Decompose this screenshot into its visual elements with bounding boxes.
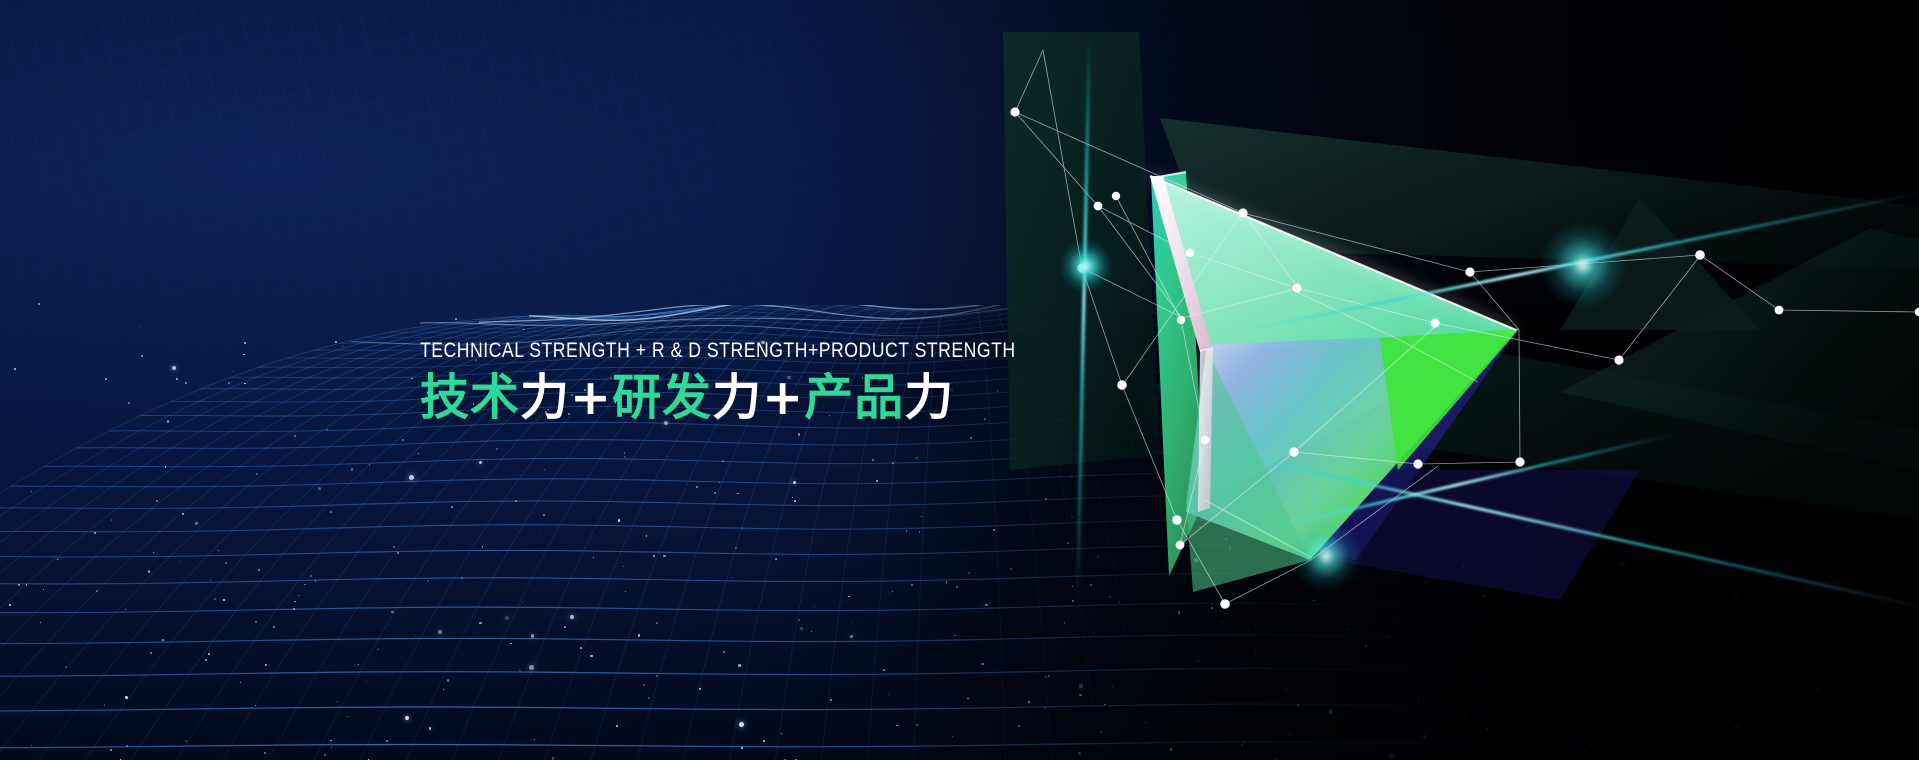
headline-segment-2: +: [570, 369, 612, 426]
headline-segment-5: +: [762, 369, 804, 426]
hero-banner: TECHNICAL STRENGTH + R & D STRENGTH+PROD…: [0, 0, 1919, 760]
hero-headline-chinese: 技术力+研发力+产品力: [420, 372, 1129, 425]
headline-segment-4: 力: [712, 369, 762, 426]
hero-eyebrow-english: TECHNICAL STRENGTH + R & D STRENGTH+PROD…: [420, 340, 1016, 361]
headline-segment-6: 产品: [804, 369, 904, 426]
headline-segment-0: 技术: [420, 369, 520, 426]
headline-segment-7: 力: [904, 369, 954, 426]
hero-text-block: TECHNICAL STRENGTH + R & D STRENGTH+PROD…: [420, 340, 1129, 425]
headline-segment-3: 研发: [612, 369, 712, 426]
headline-segment-1: 力: [520, 369, 570, 426]
dark-polygon-backdrop: [1003, 32, 1919, 520]
